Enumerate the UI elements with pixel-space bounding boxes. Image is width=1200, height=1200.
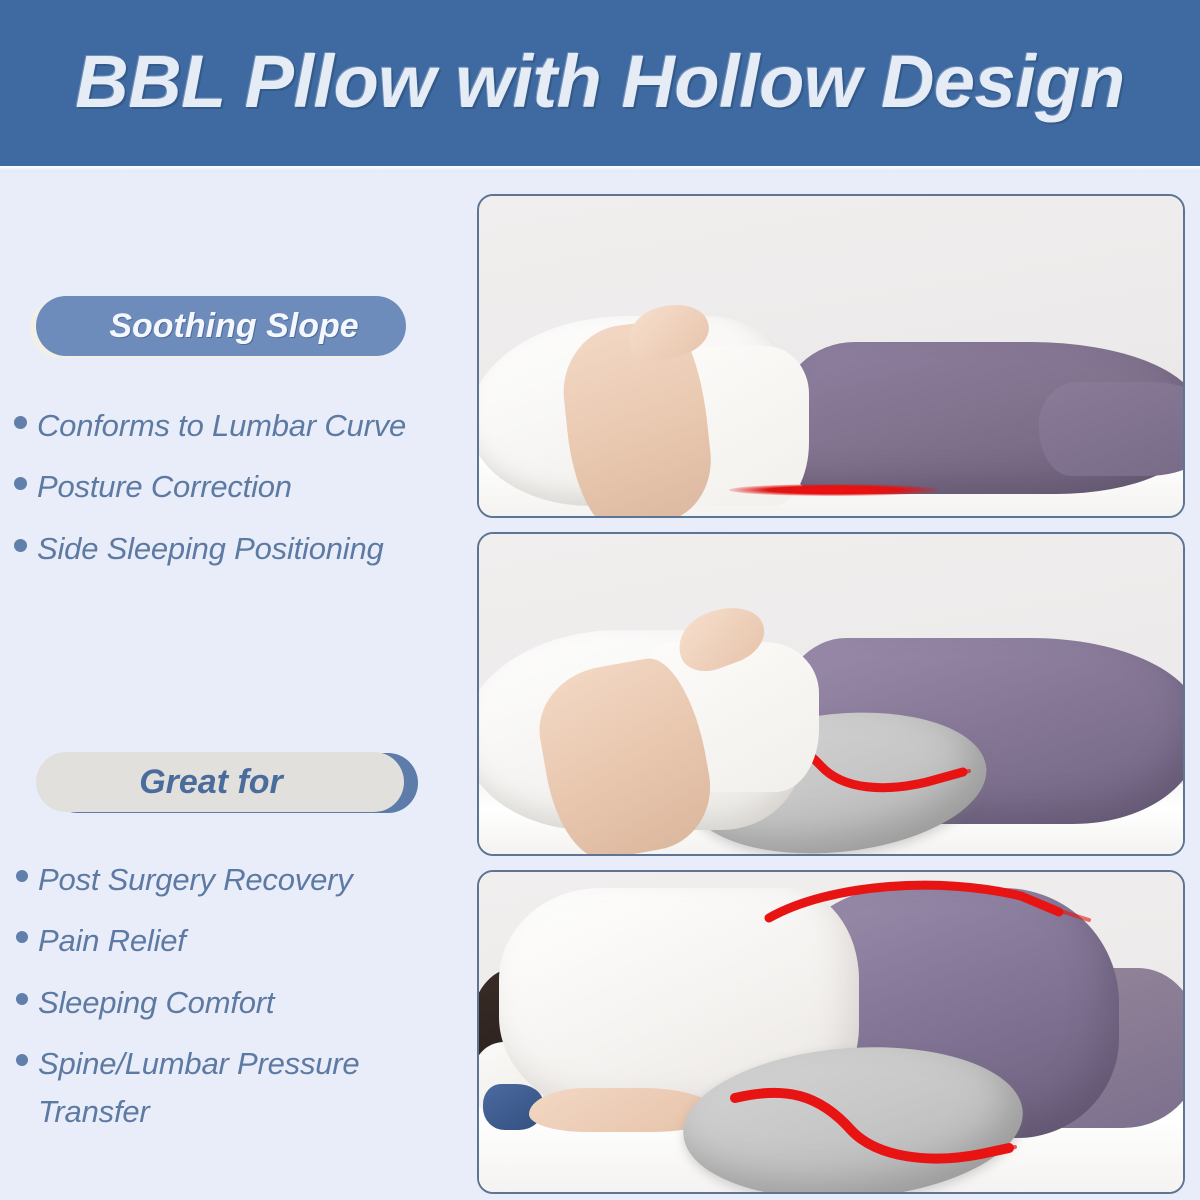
- banner-divider: [0, 166, 1200, 172]
- section-heading-great-for: Great for: [36, 752, 406, 814]
- photo-scene: [479, 534, 1183, 854]
- bullet-dot-icon: [16, 1054, 28, 1066]
- photo-scene: [479, 196, 1183, 516]
- list-item: Spine/Lumbar Pressure Transfer: [0, 1040, 460, 1135]
- list-item: Pain Relief: [0, 917, 460, 964]
- bullet-dot-icon: [14, 477, 27, 490]
- list-item-label: Posture Correction: [37, 463, 292, 510]
- red-lumbar-curve-icon: [727, 1072, 1017, 1182]
- red-lumbar-gap-highlight-icon: [729, 484, 939, 496]
- list-item-label: Pain Relief: [38, 917, 186, 964]
- page-title: BBL Pllow with Hollow Design: [75, 39, 1124, 124]
- bullet-dot-icon: [16, 993, 28, 1005]
- soothing-slope-label: Soothing Slope: [36, 296, 406, 356]
- great-for-label: Great for: [36, 752, 404, 812]
- bullet-dot-icon: [14, 416, 27, 429]
- list-item-label: Conforms to Lumbar Curve: [37, 402, 406, 449]
- lower-legs: [1039, 382, 1185, 476]
- bullet-dot-icon: [14, 539, 27, 552]
- list-item: Sleeping Comfort: [0, 979, 460, 1026]
- list-item-label: Spine/Lumbar Pressure Transfer: [38, 1040, 460, 1135]
- list-item-label: Side Sleeping Positioning: [37, 525, 384, 572]
- photo-scene: [479, 872, 1183, 1192]
- product-photo-with-pillow: Woman lying on her side with the grey ov…: [477, 532, 1185, 856]
- list-item: Conforms to Lumbar Curve: [0, 402, 460, 449]
- section-heading-soothing-slope: Soothing Slope: [36, 296, 406, 358]
- bullet-dot-icon: [16, 870, 28, 882]
- product-photo-no-pillow: Woman lying on her side on a bed without…: [477, 194, 1185, 518]
- list-item-label: Post Surgery Recovery: [38, 856, 353, 903]
- features-column: Soothing Slope Conforms to Lumbar Curve …: [0, 176, 460, 1200]
- list-item-label: Sleeping Comfort: [38, 979, 274, 1026]
- infographic-page: BBL Pllow with Hollow Design Soothing Sl…: [0, 0, 1200, 1200]
- bullet-dot-icon: [16, 931, 28, 943]
- product-photo-closeup: Close view of the grey oval BBL pillow u…: [477, 870, 1185, 1194]
- list-item: Post Surgery Recovery: [0, 856, 460, 903]
- header-banner: BBL Pllow with Hollow Design: [0, 0, 1200, 166]
- list-item: Side Sleeping Positioning: [0, 525, 460, 572]
- list-item: Posture Correction: [0, 463, 460, 510]
- soothing-slope-bullet-list: Conforms to Lumbar Curve Posture Correct…: [0, 402, 460, 586]
- great-for-bullet-list: Post Surgery Recovery Pain Relief Sleepi…: [0, 856, 460, 1149]
- red-hip-contour-icon: [759, 874, 1099, 934]
